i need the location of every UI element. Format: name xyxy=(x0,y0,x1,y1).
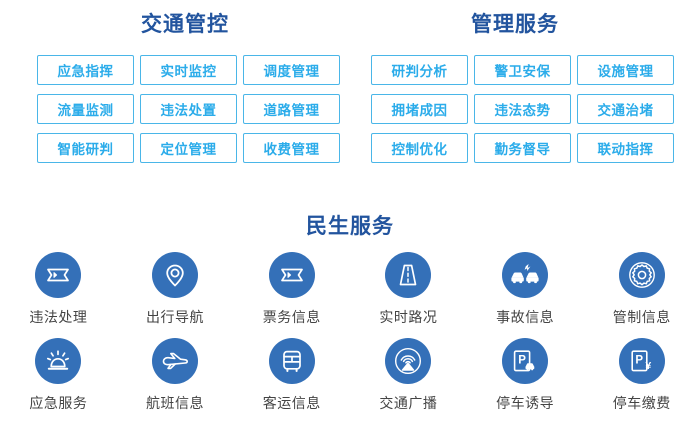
traffic-control-button-8[interactable]: 定位管理 xyxy=(140,133,237,163)
ticket-icon[interactable] xyxy=(35,252,81,298)
public-service-item-10[interactable]: 交通广播 xyxy=(350,338,466,424)
public-service-item-6[interactable]: 管制信息 xyxy=(584,252,700,338)
gear-icon[interactable] xyxy=(619,252,665,298)
public-service-item-8[interactable]: 航班信息 xyxy=(117,338,233,424)
location-pin-icon[interactable] xyxy=(152,252,198,298)
traffic-control-button-1[interactable]: 应急指挥 xyxy=(37,55,134,85)
bus-icon[interactable] xyxy=(269,338,315,384)
traffic-control-button-6[interactable]: 道路管理 xyxy=(243,94,340,124)
siren-icon[interactable] xyxy=(35,338,81,384)
airplane-icon[interactable] xyxy=(152,338,198,384)
button-grids: 应急指挥实时监控调度管理流量监测违法处置道路管理智能研判定位管理收费管理 研判分… xyxy=(0,55,700,175)
public-service-item-2[interactable]: 出行导航 xyxy=(117,252,233,338)
public-service-item-4[interactable]: 实时路况 xyxy=(350,252,466,338)
public-service-item-label: 实时路况 xyxy=(379,307,437,327)
public-service-item-label: 客运信息 xyxy=(263,393,321,413)
management-service-button-4[interactable]: 拥堵成因 xyxy=(371,94,468,124)
ticket-icon[interactable] xyxy=(269,252,315,298)
management-service-button-8[interactable]: 勤务督导 xyxy=(474,133,571,163)
public-service-item-11[interactable]: P 停车诱导 xyxy=(467,338,583,424)
public-service-icon-grid: 违法处理 出行导航 票务信息 实时路况 事故信息 xyxy=(0,252,700,424)
public-service-item-3[interactable]: 票务信息 xyxy=(234,252,350,338)
public-service-item-9[interactable]: 客运信息 xyxy=(234,338,350,424)
broadcast-icon[interactable] xyxy=(385,338,431,384)
svg-text:P: P xyxy=(635,354,643,366)
road-icon[interactable] xyxy=(385,252,431,298)
management-service-button-1[interactable]: 研判分析 xyxy=(371,55,468,85)
management-service-button-2[interactable]: 警卫安保 xyxy=(474,55,571,85)
traffic-control-button-2[interactable]: 实时监控 xyxy=(140,55,237,85)
public-service-item-label: 违法处理 xyxy=(29,307,87,327)
public-service-item-label: 出行导航 xyxy=(146,307,204,327)
management-service-button-7[interactable]: 控制优化 xyxy=(371,133,468,163)
traffic-control-button-9[interactable]: 收费管理 xyxy=(243,133,340,163)
traffic-control-button-7[interactable]: 智能研判 xyxy=(37,133,134,163)
management-service-button-9[interactable]: 联动指挥 xyxy=(577,133,674,163)
public-service-item-label: 航班信息 xyxy=(146,393,204,413)
public-service-item-label: 应急服务 xyxy=(29,393,87,413)
public-service-item-label: 管制信息 xyxy=(613,307,671,327)
traffic-control-button-3[interactable]: 调度管理 xyxy=(243,55,340,85)
svg-text:P: P xyxy=(518,354,526,366)
car-crash-icon[interactable] xyxy=(502,252,548,298)
page-title-public-service: 民生服务 xyxy=(0,210,700,240)
traffic-control-button-grid: 应急指挥实时监控调度管理流量监测违法处置道路管理智能研判定位管理收费管理 xyxy=(37,55,340,163)
public-service-item-5[interactable]: 事故信息 xyxy=(467,252,583,338)
page-title-traffic-control: 交通管控 xyxy=(0,8,370,38)
public-service-item-label: 交通广播 xyxy=(379,393,437,413)
traffic-control-button-4[interactable]: 流量监测 xyxy=(37,94,134,124)
public-service-item-label: 停车诱导 xyxy=(496,393,554,413)
parking-payment-icon[interactable]: P ¥ xyxy=(619,338,665,384)
section-headings: 交通管控 管理服务 xyxy=(0,0,700,48)
management-service-button-5[interactable]: 违法态势 xyxy=(474,94,571,124)
parking-car-icon[interactable]: P xyxy=(502,338,548,384)
public-service-item-7[interactable]: 应急服务 xyxy=(0,338,116,424)
page-title-management-service: 管理服务 xyxy=(330,8,700,38)
management-service-button-grid: 研判分析警卫安保设施管理拥堵成因违法态势交通治堵控制优化勤务督导联动指挥 xyxy=(371,55,674,163)
management-service-button-3[interactable]: 设施管理 xyxy=(577,55,674,85)
public-service-item-label: 停车缴费 xyxy=(613,393,671,413)
public-service-item-12[interactable]: P ¥ 停车缴费 xyxy=(584,338,700,424)
public-service-item-label: 事故信息 xyxy=(496,307,554,327)
traffic-control-button-5[interactable]: 违法处置 xyxy=(140,94,237,124)
svg-text:¥: ¥ xyxy=(645,360,651,372)
management-service-button-6[interactable]: 交通治堵 xyxy=(577,94,674,124)
public-service-item-label: 票务信息 xyxy=(263,307,321,327)
public-service-item-1[interactable]: 违法处理 xyxy=(0,252,116,338)
